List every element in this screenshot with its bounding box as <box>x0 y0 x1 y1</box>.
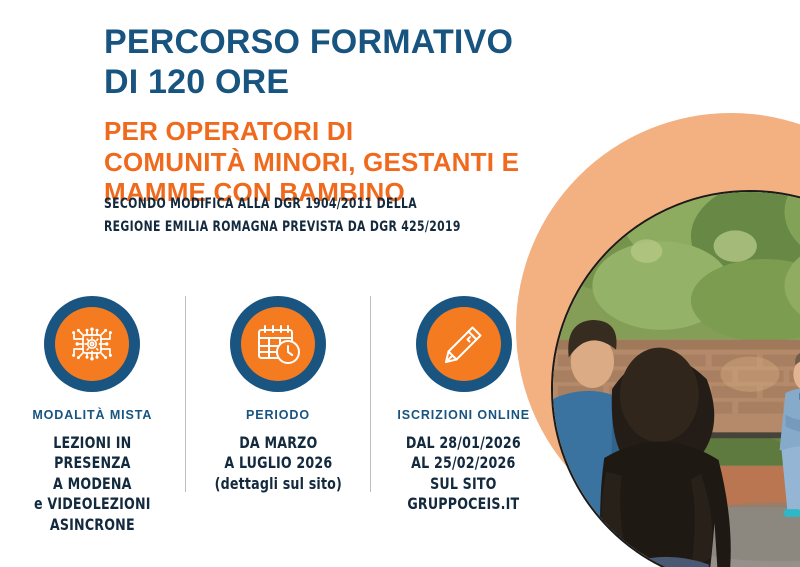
modalita-title: MODALITÀ MISTA <box>32 408 152 422</box>
iscrizioni-icon-disc <box>427 307 501 381</box>
iscrizioni-body: DAL 28/01/2026 AL 25/02/2026 SUL SITO GR… <box>386 433 541 515</box>
page-title: PERCORSO FORMATIVO DI 120 ORE <box>104 22 574 102</box>
pencil-icon <box>439 319 489 369</box>
modalita-body: LEZIONI IN PRESENZA A MODENA e VIDEOLEZI… <box>15 433 170 535</box>
calendar-clock-icon <box>253 319 303 369</box>
feature-columns: MODALITÀ MISTA LEZIONI IN PRESENZA A MOD… <box>0 296 556 535</box>
feature-iscrizioni: ISCRIZIONI ONLINE DAL 28/01/2026 AL 25/0… <box>371 296 556 515</box>
feature-periodo: PERIODO DA MARZO A LUGLIO 2026 (dettagli… <box>186 296 371 494</box>
iscrizioni-icon-ring <box>416 296 512 392</box>
modalita-icon-disc <box>55 307 129 381</box>
poster-canvas: PERCORSO FORMATIVO DI 120 ORE PER OPERAT… <box>0 0 800 567</box>
feature-modalita: MODALITÀ MISTA LEZIONI IN PRESENZA A MOD… <box>0 296 185 535</box>
heading-block: PERCORSO FORMATIVO DI 120 ORE PER OPERAT… <box>104 22 574 207</box>
periodo-icon-ring <box>230 296 326 392</box>
modalita-icon-ring <box>44 296 140 392</box>
periodo-title: PERIODO <box>246 408 310 422</box>
periodo-body: DA MARZO A LUGLIO 2026 (dettagli sul sit… <box>214 433 341 494</box>
microchip-gear-icon <box>66 318 118 370</box>
regulation-note: SECONDO MODIFICA ALLA DGR 1904/2011 DELL… <box>104 193 461 239</box>
periodo-icon-disc <box>241 307 315 381</box>
iscrizioni-title: ISCRIZIONI ONLINE <box>397 408 530 422</box>
